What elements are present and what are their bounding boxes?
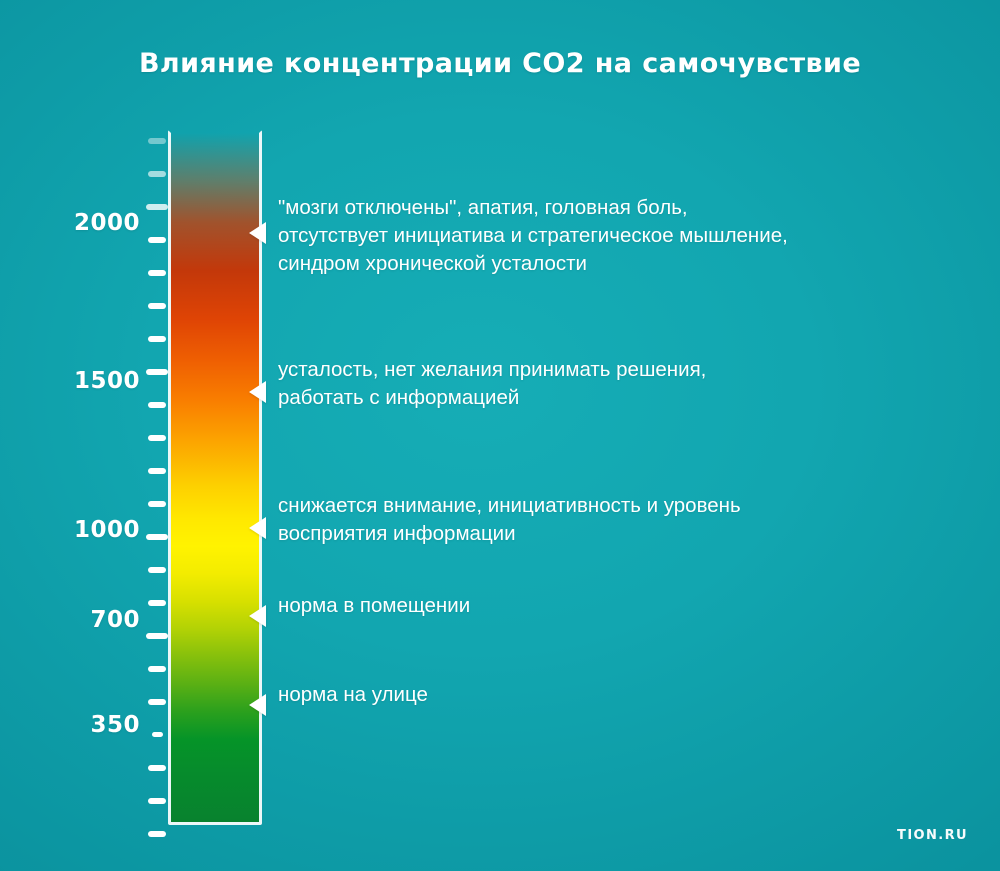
ruler-tick <box>148 237 166 243</box>
ruler-tick <box>146 204 168 210</box>
scale-label-group: 200015001000700350 <box>0 130 140 825</box>
co2-gradient-bar <box>168 130 262 825</box>
ruler-tick <box>148 699 166 705</box>
infographic-poster: Влияние концентрации CO2 на самочувствие… <box>0 0 1000 871</box>
scale-label-2000: 2000 <box>74 210 140 236</box>
ruler-tick <box>148 468 166 474</box>
ruler-tick <box>148 600 166 606</box>
pointer-1000-icon <box>249 517 266 539</box>
ruler-tick <box>152 732 163 737</box>
ruler-tick <box>148 567 166 573</box>
pointer-700-icon <box>249 605 266 627</box>
ruler-tick <box>148 336 166 342</box>
ruler-ticks <box>146 130 172 825</box>
ruler-tick <box>148 666 166 672</box>
scale-label-1000: 1000 <box>74 517 140 543</box>
ruler-tick <box>148 798 166 804</box>
ruler-tick <box>148 831 166 837</box>
pointer-1500-icon <box>249 381 266 403</box>
watermark: TION.RU <box>897 828 968 843</box>
ruler-tick <box>148 402 166 408</box>
ruler-tick <box>146 633 168 639</box>
ruler-tick <box>148 435 166 441</box>
ruler-tick <box>146 369 168 375</box>
ruler-tick <box>148 765 166 771</box>
gradient-fill <box>171 133 259 822</box>
ruler-tick <box>148 138 166 144</box>
ruler-tick <box>148 171 166 177</box>
note-350: норма на улице <box>278 681 428 709</box>
ruler-tick <box>148 303 166 309</box>
scale-label-1500: 1500 <box>74 368 140 394</box>
scale-label-350: 350 <box>90 712 140 738</box>
ruler-tick <box>148 270 166 276</box>
ruler-tick <box>146 534 168 540</box>
note-700: норма в помещении <box>278 592 470 620</box>
pointer-350-icon <box>249 694 266 716</box>
note-2000: "мозги отключены", апатия, головная боль… <box>278 194 788 278</box>
scale-label-700: 700 <box>90 607 140 633</box>
pointer-2000-icon <box>249 222 266 244</box>
note-1000: снижается внимание, инициативность и уро… <box>278 492 741 548</box>
page-title: Влияние концентрации CO2 на самочувствие <box>0 48 1000 79</box>
note-1500: усталость, нет желания принимать решения… <box>278 356 706 412</box>
ruler-tick <box>148 501 166 507</box>
